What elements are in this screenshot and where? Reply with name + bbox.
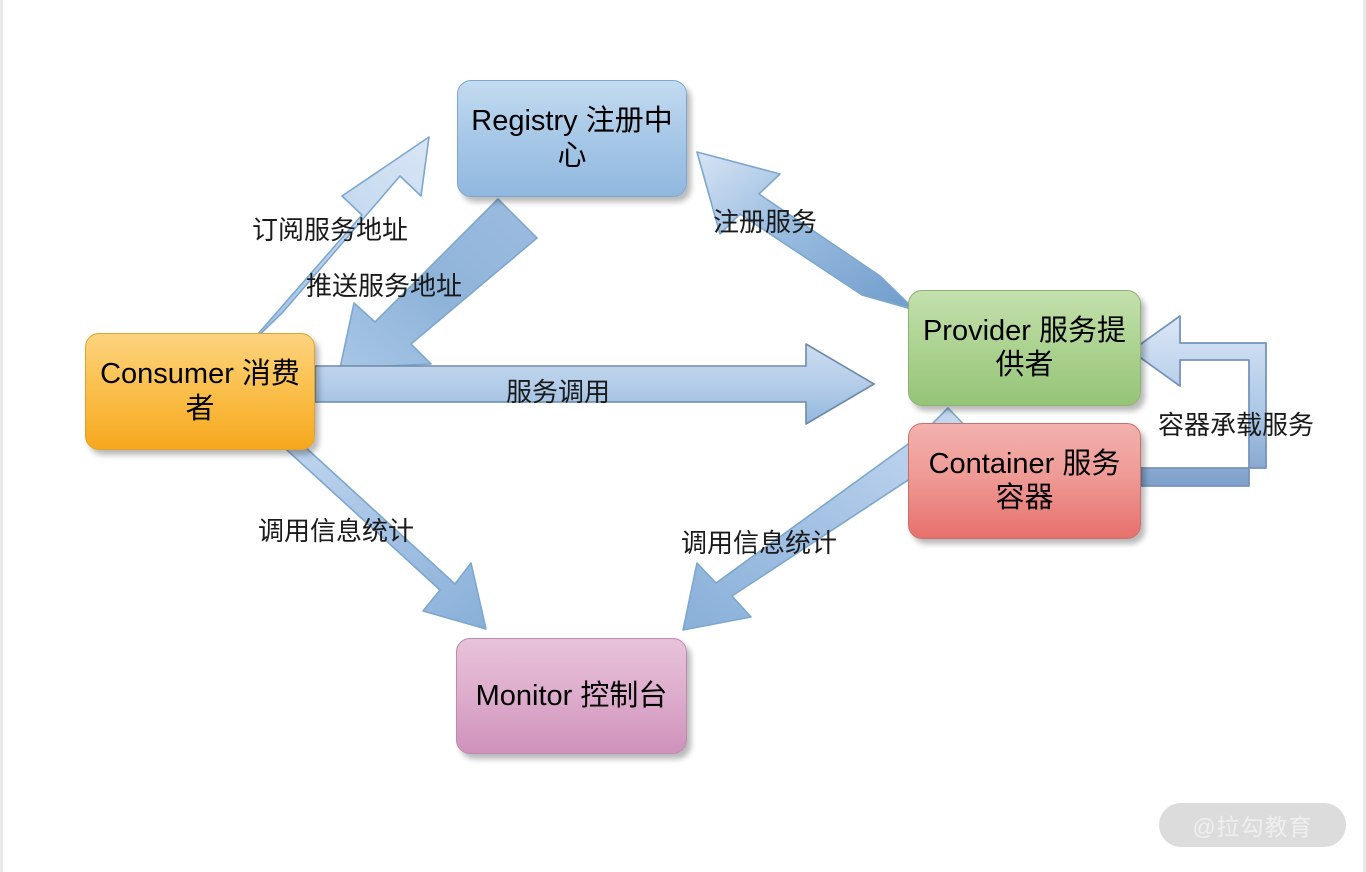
- edge-label-stat-consumer: 调用信息统计: [258, 511, 414, 548]
- node-consumer[interactable]: Consumer 消费者: [85, 333, 315, 450]
- edge-label-register: 注册服务: [713, 202, 817, 239]
- node-monitor[interactable]: Monitor 控制台: [456, 638, 687, 754]
- edge-label-push: 推送服务地址: [306, 266, 462, 303]
- node-registry[interactable]: Registry 注册中心: [457, 80, 687, 197]
- edge-label-carry: 容器承载服务: [1158, 405, 1314, 442]
- arrow-carry: [1131, 316, 1266, 486]
- edge-label-stat-provider: 调用信息统计: [681, 523, 837, 560]
- node-container-label: Container 服务容器: [921, 447, 1128, 515]
- node-registry-label: Registry 注册中心: [470, 104, 674, 172]
- watermark: @拉勾教育: [1159, 803, 1346, 847]
- node-monitor-label: Monitor 控制台: [476, 679, 668, 713]
- node-consumer-label: Consumer 消费者: [98, 357, 302, 425]
- edge-label-invoke: 服务调用: [506, 372, 610, 409]
- diagram-canvas: Registry 注册中心 Consumer 消费者 Provider 服务提供…: [0, 0, 1366, 872]
- node-provider-label: Provider 服务提供者: [921, 314, 1128, 382]
- edge-label-subscribe: 订阅服务地址: [252, 210, 408, 247]
- node-provider[interactable]: Provider 服务提供者: [908, 290, 1141, 406]
- node-container[interactable]: Container 服务容器: [908, 423, 1141, 539]
- watermark-text: @拉勾教育: [1192, 808, 1312, 842]
